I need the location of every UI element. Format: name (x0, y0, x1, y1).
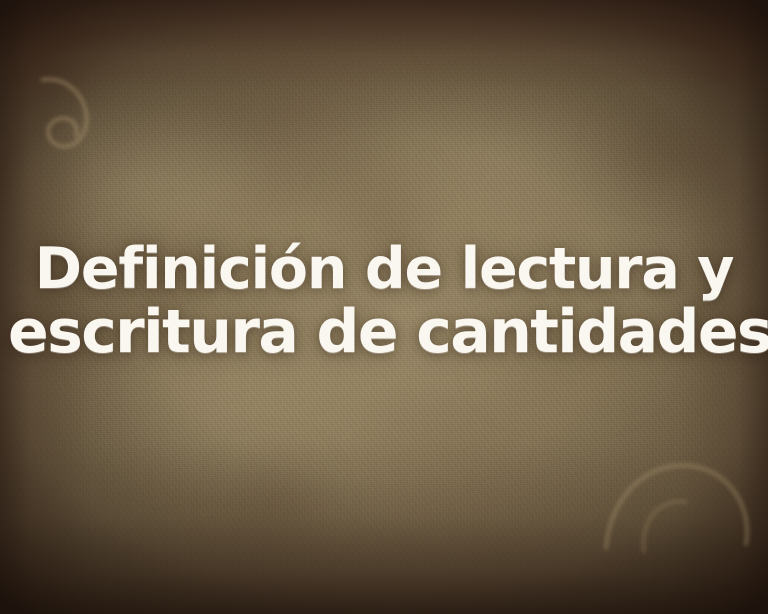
title-line-1: Definición de lectura y (8, 238, 760, 301)
ink-swirl-bottom-right-mark (600, 440, 760, 560)
title-card-canvas: Definición de lectura y escritura de can… (0, 0, 768, 614)
ink-swirl-top-left-mark (30, 70, 120, 160)
title-block: Definición de lectura y escritura de can… (0, 238, 768, 364)
title-line-2: escritura de cantidades (8, 301, 760, 364)
